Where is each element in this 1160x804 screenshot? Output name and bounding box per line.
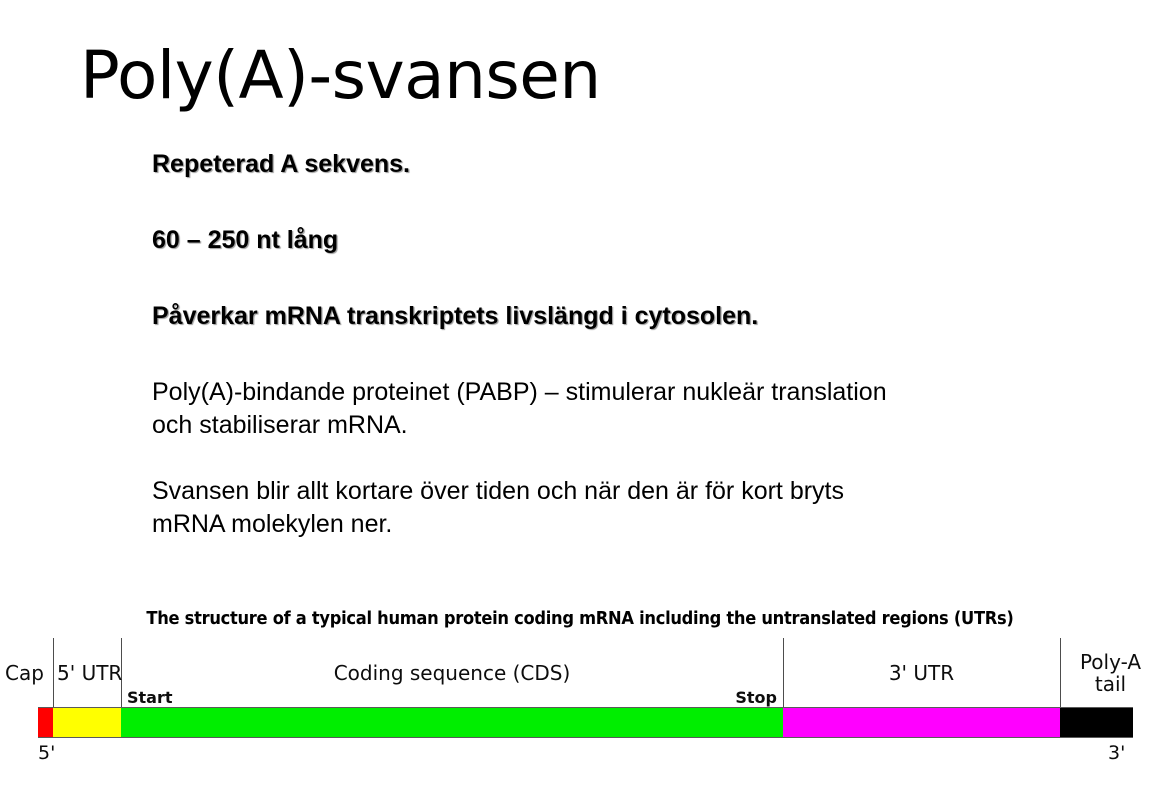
boundary-line-3utr-polya xyxy=(1060,638,1061,707)
poly-a-label-line-2: tail xyxy=(1095,672,1126,696)
page-title: Poly(A)-svansen xyxy=(80,40,601,113)
slide-body: Repeterad A sekvens. 60 – 250 nt lång På… xyxy=(152,148,1052,541)
figure-caption: The structure of a typical human protein… xyxy=(41,609,1120,629)
body-line-5: och stabiliserar mRNA. xyxy=(152,409,1052,442)
bar-segment-5-utr xyxy=(53,708,121,737)
region-label-poly-a-tail: Poly-A tail xyxy=(1063,651,1158,695)
end-label-3-prime: 3' xyxy=(1108,742,1125,764)
region-label-cds: Coding sequence (CDS) xyxy=(121,662,783,684)
mrna-structure-figure: The structure of a typical human protein… xyxy=(0,600,1160,804)
bar-segment-poly-a-tail xyxy=(1060,708,1133,737)
body-line-6: Svansen blir allt kortare över tiden och… xyxy=(152,475,1052,508)
body-line-2: 60 – 250 nt lång xyxy=(152,224,1052,257)
bar-segment-3-utr xyxy=(783,708,1060,737)
bar-segment-cap xyxy=(38,708,53,737)
site-label-start: Start xyxy=(127,688,173,707)
body-spacer xyxy=(152,257,1052,300)
body-line-4: Poly(A)-bindande proteinet (PABP) – stim… xyxy=(152,376,1052,409)
body-spacer xyxy=(152,181,1052,224)
boundary-line-cap-5utr xyxy=(53,638,54,707)
bar-segment-cds xyxy=(121,708,783,737)
body-line-3: Påverkar mRNA transkriptets livslängd i … xyxy=(152,300,1052,333)
poly-a-label-line-1: Poly-A xyxy=(1080,650,1141,674)
body-spacer xyxy=(152,333,1052,376)
site-label-stop: Stop xyxy=(683,688,777,707)
mrna-bar xyxy=(38,707,1133,738)
body-line-7: mRNA molekylen ner. xyxy=(152,508,1052,541)
end-label-5-prime: 5' xyxy=(38,742,55,764)
region-label-3-utr: 3' UTR xyxy=(783,662,1060,684)
region-label-5-utr: 5' UTR xyxy=(57,662,122,684)
body-spacer xyxy=(152,442,1052,475)
body-line-1: Repeterad A sekvens. xyxy=(152,148,1052,181)
region-label-cap: Cap xyxy=(5,662,44,684)
